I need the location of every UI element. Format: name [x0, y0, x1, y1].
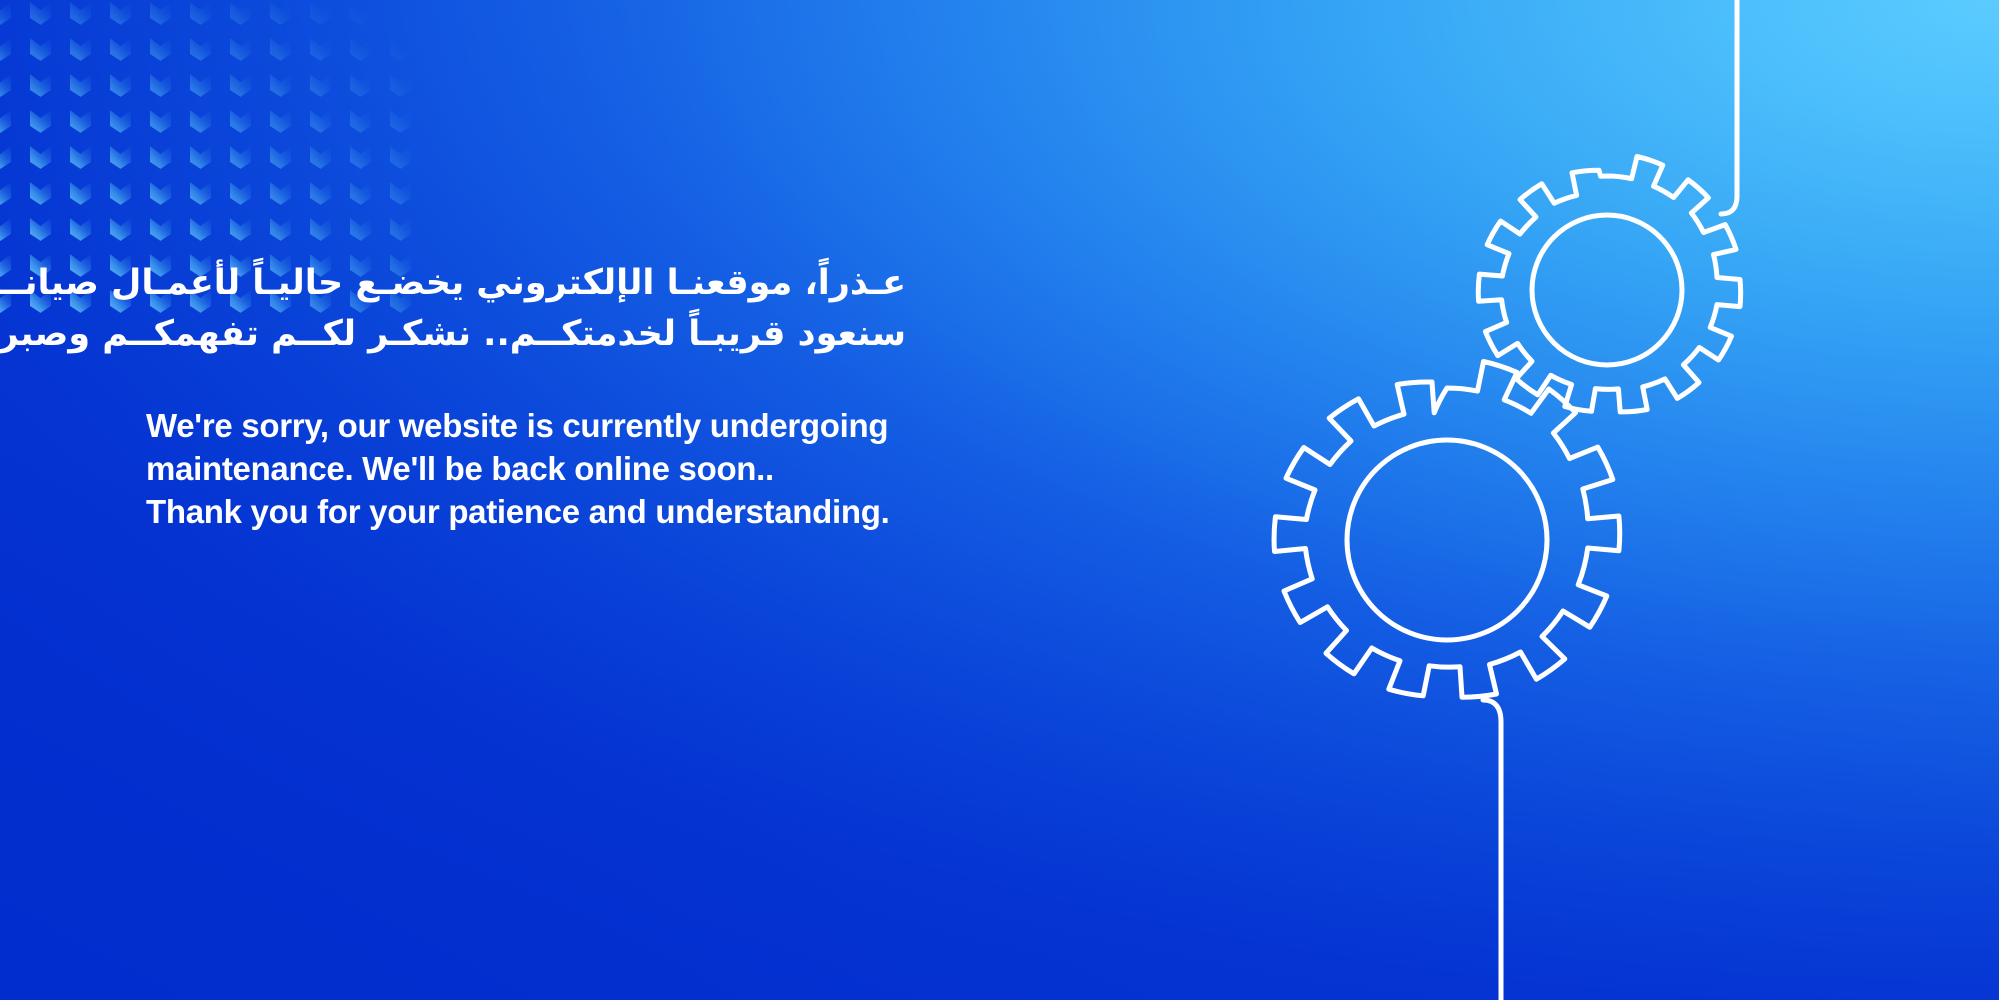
english-message-line-2: maintenance. We'll be back online soon..	[146, 447, 906, 490]
maintenance-message-block: عـذراً، موقعنـا الإلكتروني يخضـع حاليـاً…	[146, 258, 906, 533]
arabic-message-line-2: سنعود قريبـاً لخدمتكــم.. نشكـر لكــم تف…	[146, 309, 906, 360]
arabic-message: عـذراً، موقعنـا الإلكتروني يخضـع حاليـاً…	[146, 258, 906, 360]
english-message: We're sorry, our website is currently un…	[146, 404, 906, 533]
arabic-message-line-1: عـذراً، موقعنـا الإلكتروني يخضـع حاليـاً…	[146, 258, 906, 309]
maintenance-page: عـذراً، موقعنـا الإلكتروني يخضـع حاليـاً…	[0, 0, 1999, 1000]
english-message-line-1: We're sorry, our website is currently un…	[146, 404, 906, 447]
english-message-line-3: Thank you for your patience and understa…	[146, 490, 906, 533]
